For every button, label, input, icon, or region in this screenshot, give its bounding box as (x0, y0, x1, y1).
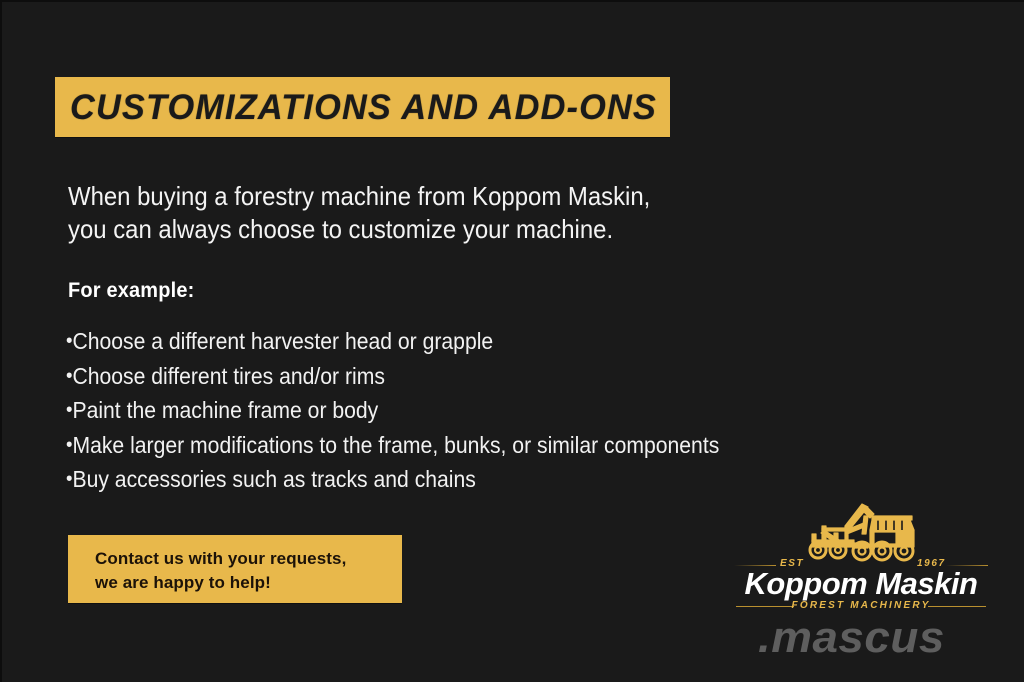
contact-cta-box[interactable]: Contact us with your requests, we are ha… (68, 535, 402, 603)
logo-subtitle-rule-right (928, 606, 986, 607)
logo-subtitle-row: FOREST MACHINERY (732, 600, 990, 612)
customization-list: •Choose a different harvester head or gr… (66, 324, 719, 497)
list-item-label: Choose different tires and/or rims (72, 363, 384, 389)
list-item: •Buy accessories such as tracks and chai… (66, 462, 719, 497)
list-item-label: Make larger modifications to the frame, … (72, 432, 719, 458)
list-item: •Choose different tires and/or rims (66, 359, 719, 394)
contact-cta-text: Contact us with your requests, we are ha… (95, 547, 346, 595)
intro-line-1: When buying a forestry machine from Kopp… (68, 180, 712, 213)
page-title: CUSTOMIZATIONS AND ADD-ONS (70, 90, 657, 125)
list-item-label: Paint the machine frame or body (72, 397, 378, 423)
forwarder-machine-icon (782, 500, 942, 562)
title-banner: CUSTOMIZATIONS AND ADD-ONS (55, 77, 670, 137)
list-item-label: Buy accessories such as tracks and chain… (72, 466, 475, 492)
list-item-label: Choose a different harvester head or gra… (72, 328, 493, 354)
promo-slide: CUSTOMIZATIONS AND ADD-ONS When buying a… (0, 0, 1024, 682)
contact-line-1: Contact us with your requests, (95, 547, 346, 571)
mascus-watermark: .mascus (758, 616, 945, 660)
koppom-maskin-logo: EST 1967 Koppom Maskin FOREST MACHINERY (732, 500, 990, 612)
section-heading: For example: (68, 279, 194, 303)
intro-paragraph: When buying a forestry machine from Kopp… (68, 180, 712, 246)
intro-line-2: you can always choose to customize your … (68, 213, 712, 246)
logo-brand-name: Koppom Maskin (732, 568, 990, 599)
list-item: •Make larger modifications to the frame,… (66, 428, 719, 463)
list-item: •Paint the machine frame or body (66, 393, 719, 428)
list-item: •Choose a different harvester head or gr… (66, 324, 719, 359)
contact-line-2: we are happy to help! (95, 571, 346, 595)
